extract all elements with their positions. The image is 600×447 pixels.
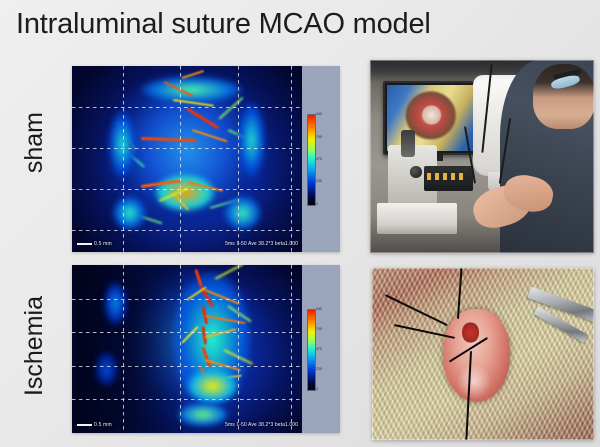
scale-bar-line	[77, 243, 92, 245]
colorbar-tick: 940	[316, 307, 322, 311]
photo-rodent-neck-dissection[interactable]	[372, 268, 594, 440]
row-label-sham: sham	[22, 112, 47, 173]
photo-content-lab	[370, 60, 594, 253]
colorbar-tick: 705	[316, 135, 322, 139]
researcher-body	[500, 60, 594, 253]
colorbar-tick: 470	[316, 347, 322, 351]
acquisition-stamp: 5ms 1-50 Ave 38.2*3 beta1.000	[225, 241, 298, 247]
photo-surgical-microscope-setup[interactable]	[370, 60, 594, 253]
colorbar-ticks: 940 705 470 235 0	[316, 309, 338, 390]
laser-speckle-ischemia-panel[interactable]: 0.5 mm 5ms 1-50 Ave 38.2*3 beta1.000 940…	[72, 265, 340, 433]
speckle-ischemia-image: 0.5 mm 5ms 1-50 Ave 38.2*3 beta1.000	[72, 265, 302, 433]
scale-bar: 0.5 mm	[77, 241, 112, 247]
researcher-head	[533, 64, 594, 130]
colorbar-gradient	[307, 309, 316, 392]
slide-root: Intraluminal suture MCAO model sham Isch…	[0, 0, 600, 447]
colorbar-panel-ischemia: 940 705 470 235 0	[302, 265, 340, 433]
page-title: Intraluminal suture MCAO model	[16, 8, 431, 41]
colorbar-tick: 470	[316, 157, 322, 161]
speckle-sham-image: 0.5 mm 5ms 1-50 Ave 38.2*3 beta1.000	[72, 66, 302, 252]
colorbar-tick: 235	[316, 179, 322, 183]
colorbar-tick: 0	[316, 387, 318, 391]
laser-speckle-sham-panel[interactable]: 0.5 mm 5ms 1-50 Ave 38.2*3 beta1.000 940…	[72, 66, 340, 252]
scale-bar: 0.5 mm	[77, 422, 112, 428]
row-label-ischemia: Ischemia	[22, 296, 47, 396]
colorbar-tick: 705	[316, 327, 322, 331]
scale-bar-label: 0.5 mm	[94, 422, 112, 428]
tissue-highlight	[456, 364, 492, 398]
control-box	[424, 166, 473, 191]
scale-bar-label: 0.5 mm	[94, 241, 112, 247]
acquisition-stamp: 5ms 1-50 Ave 38.2*3 beta1.000	[225, 422, 298, 428]
colorbar-gradient	[307, 114, 316, 205]
monitor-icon	[383, 81, 486, 154]
colorbar-panel-sham: 940 705 470 235 0	[302, 66, 340, 252]
scale-bar-line	[77, 424, 92, 426]
photo-content-surgery	[372, 268, 594, 440]
colorbar-tick: 940	[316, 112, 322, 116]
instrument-base	[377, 203, 458, 234]
colorbar-ticks: 940 705 470 235 0	[316, 114, 338, 203]
colorbar-tick: 0	[316, 202, 318, 206]
colorbar-tick: 235	[316, 367, 322, 371]
